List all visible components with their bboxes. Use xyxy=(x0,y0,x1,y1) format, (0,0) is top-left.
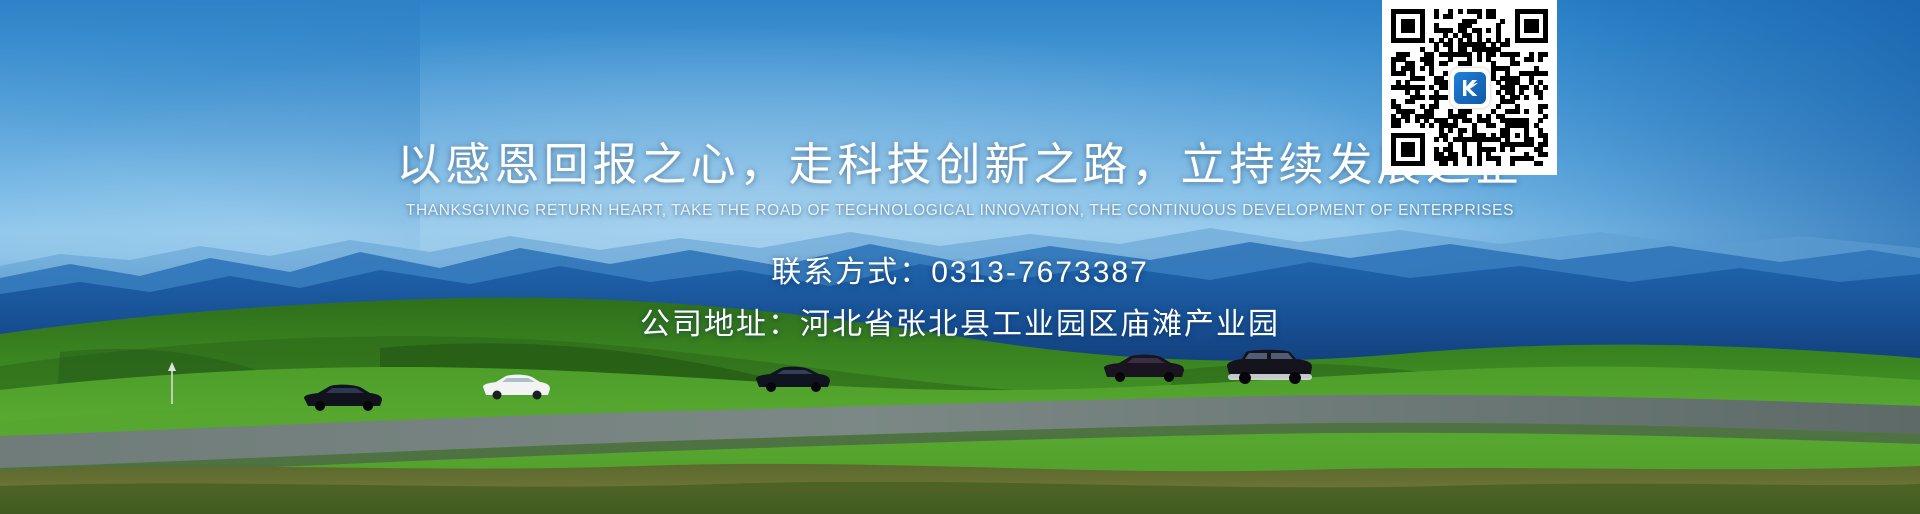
qr-center-logo xyxy=(1450,68,1490,108)
car-dark-mid xyxy=(752,364,834,394)
qr-code[interactable] xyxy=(1382,0,1557,175)
promo-banner: 以感恩回报之心，走科技创新之路，立持续发展之企 THANKSGIVING RET… xyxy=(0,0,1920,514)
car-suv-right xyxy=(1222,348,1318,386)
roadside-scrub xyxy=(0,452,1920,514)
car-dark-right xyxy=(1100,352,1188,384)
car-white xyxy=(480,372,552,402)
roadside-pole xyxy=(167,362,171,402)
company-logo-icon xyxy=(1454,72,1486,104)
car-dark-left xyxy=(300,382,386,412)
